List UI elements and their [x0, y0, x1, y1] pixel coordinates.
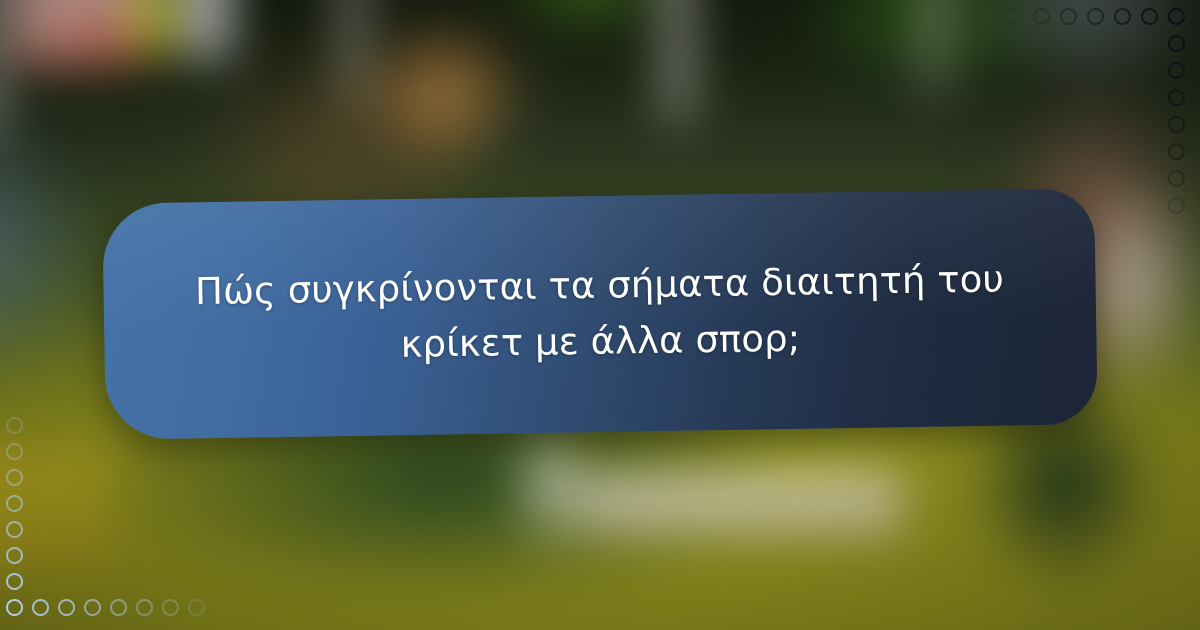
background-sign-white [184, 0, 232, 59]
quote-card: Πώς συγκρίνονται τα σήματα διαιτητή του … [102, 188, 1098, 440]
background-sign-red [15, 0, 139, 67]
background-post-3 [665, 0, 691, 121]
quote-card-surface: Πώς συγκρίνονται τα σήματα διαιτητή του … [102, 188, 1098, 440]
screenshot-canvas: Πώς συγκρίνονται τα σήματα διαιτητή του … [0, 0, 1200, 630]
background-sign-yellow [131, 0, 176, 55]
background-bench [578, 472, 902, 537]
background-field-patch [0, 450, 114, 580]
quote-text: Πώς συγκρίνονται τα σήματα διαιτητή του … [163, 251, 1037, 377]
background-figure-center [352, 7, 536, 180]
background-post-4 [924, 0, 946, 94]
